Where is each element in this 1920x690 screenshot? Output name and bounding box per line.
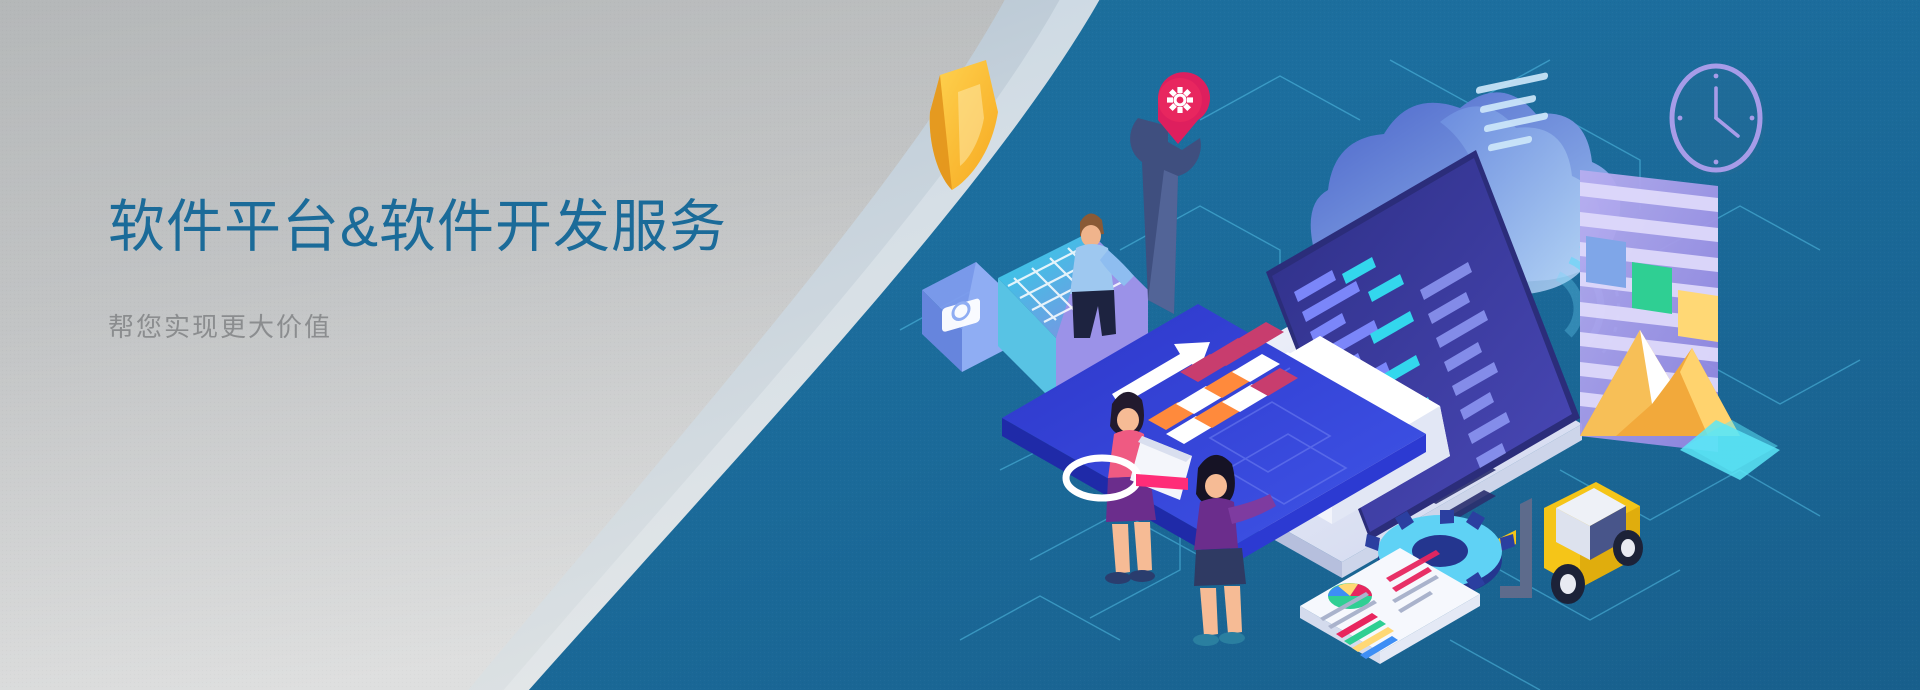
page-subtitle: 帮您实现更大价值 xyxy=(108,259,868,344)
promo-banner: 软件平台&软件开发服务 帮您实现更大价值 xyxy=(0,0,1920,690)
isometric-illustration xyxy=(880,0,1920,690)
page-title: 软件平台&软件开发服务 xyxy=(108,196,868,259)
clock-icon xyxy=(1670,64,1766,176)
banner-text-block: 软件平台&软件开发服务 帮您实现更大价值 xyxy=(108,196,868,344)
forklift-icon xyxy=(1496,482,1643,604)
shield-icon xyxy=(930,60,998,190)
